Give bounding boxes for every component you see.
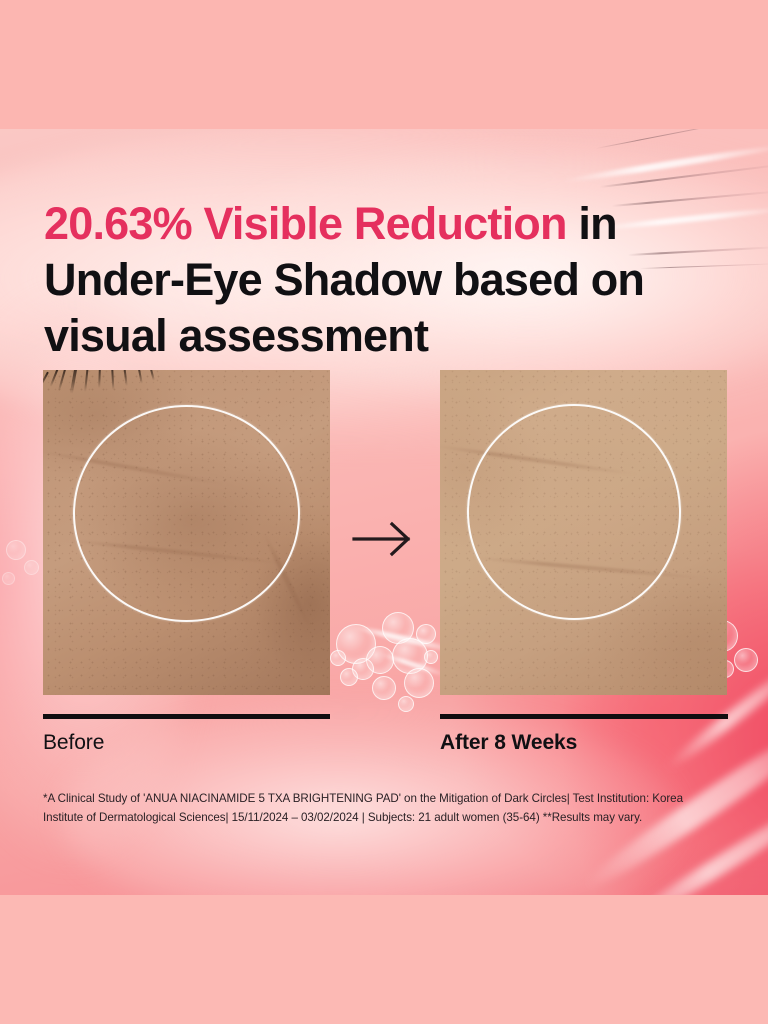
page-title: 20.63% Visible Reduction in Under-Eye Sh… <box>44 196 734 364</box>
after-underline-rule <box>440 714 728 719</box>
bubble <box>416 624 436 644</box>
bubble <box>404 668 434 698</box>
bubble <box>2 572 15 585</box>
bubble <box>24 560 39 575</box>
before-photo <box>43 370 330 695</box>
headline-line3: visual assessment <box>44 310 428 361</box>
bubble <box>372 676 396 700</box>
arrow-right-icon <box>352 518 418 560</box>
bottom-color-band <box>0 895 768 1024</box>
clinical-study-footnote: *A Clinical Study of 'ANUA NIACINAMIDE 5… <box>43 790 701 828</box>
after-photo <box>440 370 727 695</box>
headline-line2: Under-Eye Shadow based on <box>44 254 644 305</box>
headline-stat: 20.63% Visible Reduction <box>44 198 567 249</box>
before-label: Before <box>43 731 104 755</box>
circle-marker-icon <box>467 404 681 620</box>
after-label: After 8 Weeks <box>440 731 577 755</box>
circle-marker-icon <box>73 405 300 622</box>
bubble <box>340 668 358 686</box>
bubble <box>330 650 346 666</box>
bubble <box>734 648 758 672</box>
headline-line1-tail: in <box>567 198 617 249</box>
before-underline-rule <box>43 714 330 719</box>
bubble <box>398 696 414 712</box>
bubble <box>424 650 438 664</box>
advertisement-canvas: 20.63% Visible Reduction in Under-Eye Sh… <box>0 0 768 1024</box>
top-color-band <box>0 0 768 129</box>
bubble <box>6 540 26 560</box>
